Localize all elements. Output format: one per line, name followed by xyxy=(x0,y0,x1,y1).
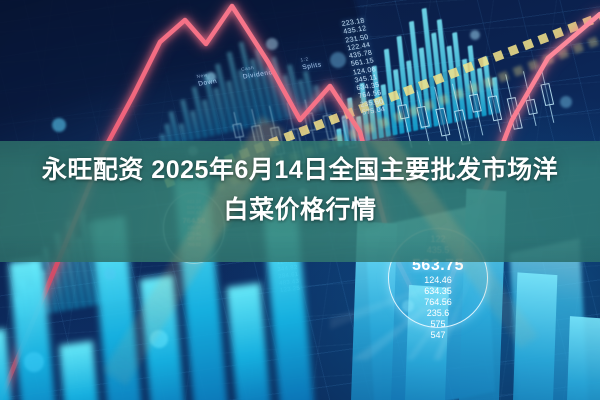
lens-number: 575 xyxy=(388,319,488,330)
banner-image: NewDownCashDividends1:2Splits 223.18435.… xyxy=(0,0,600,400)
bar xyxy=(59,341,101,400)
bokeh-dot xyxy=(104,268,116,280)
bokeh-dot xyxy=(560,96,572,108)
headline-line-1: 永旺配资 2025年6月14日全国主要批发市场洋 xyxy=(18,150,582,190)
bokeh-dot xyxy=(24,352,44,372)
lens-number: 547 xyxy=(388,330,488,341)
bar xyxy=(226,283,271,400)
bokeh-dot xyxy=(52,118,66,132)
lens-number: 235.6 xyxy=(388,308,488,319)
lens-number: 634.35 xyxy=(388,286,488,297)
headline-block: 永旺配资 2025年6月14日全国主要批发市场洋 白菜价格行情 xyxy=(0,150,600,230)
bar xyxy=(0,329,16,400)
bokeh-dot xyxy=(470,30,480,40)
bokeh-dot xyxy=(330,52,346,68)
bar xyxy=(9,258,59,400)
bar xyxy=(565,316,600,400)
headline-line-2: 白菜价格行情 xyxy=(18,190,582,230)
lens-number: 764.56 xyxy=(388,297,488,308)
bokeh-dot xyxy=(206,72,216,82)
bokeh-dot xyxy=(266,38,278,50)
